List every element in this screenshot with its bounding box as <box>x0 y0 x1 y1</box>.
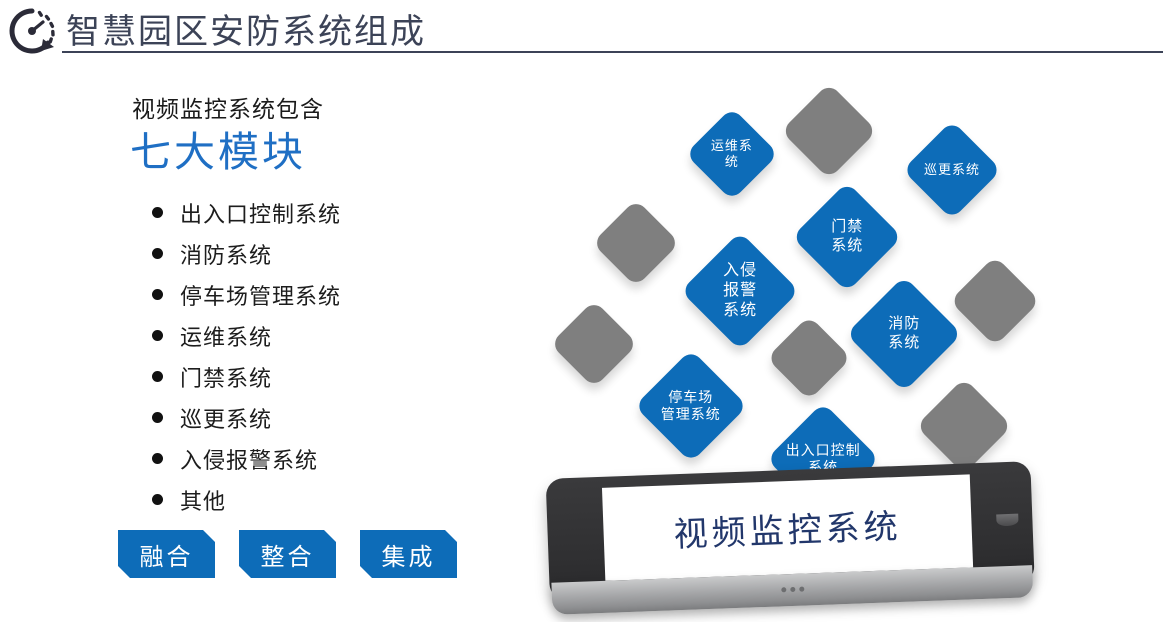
stopwatch-icon <box>4 3 60 59</box>
diagram-node-gray-1[interactable] <box>781 83 877 179</box>
speaker-dot <box>790 587 795 592</box>
section-headline: 七大模块 <box>130 118 306 178</box>
diamond-cluster-diagram: 运维系 统巡更系统门禁 系统入侵 报警 系统消防 系统停车场 管理系统出入口控制… <box>550 85 1163 480</box>
bullet-dot-icon <box>152 494 163 505</box>
list-item-label: 停车场管理系统 <box>180 279 341 311</box>
diagram-node-label: 停车场 管理系统 <box>661 389 721 424</box>
keyword-chip[interactable]: 整合 <box>239 530 336 578</box>
keyword-chip[interactable]: 集成 <box>360 530 457 578</box>
list-item: 停车场管理系统 <box>152 274 492 315</box>
list-item-label: 其他 <box>180 484 226 516</box>
page-header: 智慧园区安防系统组成 <box>0 0 1163 62</box>
keyword-chip[interactable]: 融合 <box>118 530 215 578</box>
list-item-label: 入侵报警系统 <box>180 443 318 475</box>
bullet-dot-icon <box>152 207 163 218</box>
list-item-label: 出入口控制系统 <box>180 197 341 229</box>
speaker-dot <box>799 587 804 592</box>
page-title: 智慧园区安防系统组成 <box>66 4 426 53</box>
list-item: 运维系统 <box>152 315 492 356</box>
list-item: 消防系统 <box>152 233 492 274</box>
module-list: 出入口控制系统消防系统停车场管理系统运维系统门禁系统巡更系统入侵报警系统其他 <box>152 192 492 520</box>
left-content-panel: 视频监控系统包含 七大模块 出入口控制系统消防系统停车场管理系统运维系统门禁系统… <box>110 82 510 602</box>
diagram-node-patrol[interactable]: 巡更系统 <box>903 121 1002 220</box>
speaker-dot <box>781 587 786 592</box>
bullet-dot-icon <box>152 248 163 259</box>
list-item-label: 消防系统 <box>180 238 272 270</box>
bullet-dot-icon <box>152 371 163 382</box>
bullet-dot-icon <box>152 289 163 300</box>
header-divider <box>62 51 1163 53</box>
tablet-screen: 视频监控系统 <box>602 474 973 580</box>
diagram-node-gray-2[interactable] <box>592 199 680 287</box>
bullet-dot-icon <box>152 412 163 423</box>
list-item: 其他 <box>152 479 492 520</box>
diagram-node-label: 运维系 统 <box>711 138 753 170</box>
list-item: 入侵报警系统 <box>152 438 492 479</box>
tablet-screen-label: 视频监控系统 <box>673 499 903 556</box>
bullet-dot-icon <box>152 330 163 341</box>
list-item-label: 巡更系统 <box>180 402 272 434</box>
diagram-node-parking[interactable]: 停车场 管理系统 <box>634 349 747 462</box>
bullet-dot-icon <box>152 453 163 464</box>
list-item: 巡更系统 <box>152 397 492 438</box>
list-item-label: 门禁系统 <box>180 361 272 393</box>
diagram-node-gray-4[interactable] <box>550 300 638 388</box>
tablet-device: 视频监控系统 <box>546 461 1036 619</box>
diagram-node-fire[interactable]: 消防 系统 <box>846 276 962 392</box>
camera-icon <box>996 514 1018 527</box>
diagram-node-ops[interactable]: 运维系 统 <box>685 107 778 200</box>
list-item-label: 运维系统 <box>180 320 272 352</box>
diagram-node-label: 消防 系统 <box>888 315 920 352</box>
list-item: 出入口控制系统 <box>152 192 492 233</box>
diagram-node-gray-5[interactable] <box>767 316 852 401</box>
diagram-node-label: 巡更系统 <box>924 162 980 178</box>
list-item: 门禁系统 <box>152 356 492 397</box>
diagram-node-gray-6[interactable] <box>916 378 1012 474</box>
diagram-node-access-ctrl[interactable]: 门禁 系统 <box>792 182 902 292</box>
diagram-node-intrusion[interactable]: 入侵 报警 系统 <box>681 232 800 351</box>
diagram-node-label: 门禁 系统 <box>831 218 863 255</box>
diagram-node-gray-3[interactable] <box>950 256 1041 347</box>
speaker-dots <box>781 587 804 593</box>
diagram-node-label: 入侵 报警 系统 <box>723 261 757 320</box>
keyword-chip-row: 融合整合集成 <box>118 530 457 578</box>
